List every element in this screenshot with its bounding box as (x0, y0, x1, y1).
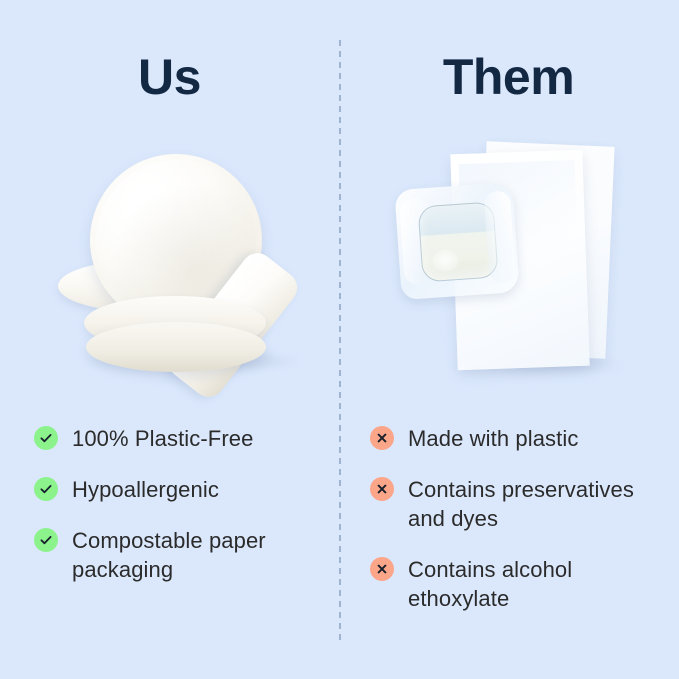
product-image-tablets (52, 150, 322, 390)
sachet-film-wrapper (394, 182, 519, 300)
liquid-pod (418, 201, 499, 282)
column-divider (339, 40, 341, 640)
cross-icon (370, 557, 394, 581)
list-item-label: Hypoallergenic (72, 475, 219, 504)
plastic-sachet (394, 182, 519, 300)
column-heading-them: Them (339, 48, 678, 106)
cross-icon (370, 477, 394, 501)
list-item: Compostable paper packaging (34, 526, 334, 584)
cross-icon (370, 426, 394, 450)
drawbacks-list-them: Made with plastic Contains preservatives… (370, 424, 670, 635)
check-icon (34, 528, 58, 552)
column-heading-us: Us (0, 48, 339, 106)
list-item-label: 100% Plastic-Free (72, 424, 253, 453)
product-image-plastic-wipes (398, 136, 658, 386)
list-item: Hypoallergenic (34, 475, 334, 504)
tablet-disc-bottom (86, 322, 266, 372)
list-item: Contains preservatives and dyes (370, 475, 670, 533)
comparison-infographic: Us Them 100% Plastic-Free (0, 0, 679, 679)
list-item-label: Made with plastic (408, 424, 578, 453)
list-item-label: Compostable paper packaging (72, 526, 330, 584)
check-icon (34, 426, 58, 450)
benefits-list-us: 100% Plastic-Free Hypoallergenic Compost… (34, 424, 334, 606)
list-item: Contains alcohol ethoxylate (370, 555, 670, 613)
check-icon (34, 477, 58, 501)
list-item: 100% Plastic-Free (34, 424, 334, 453)
list-item: Made with plastic (370, 424, 670, 453)
list-item-label: Contains alcohol ethoxylate (408, 555, 666, 613)
list-item-label: Contains preservatives and dyes (408, 475, 666, 533)
